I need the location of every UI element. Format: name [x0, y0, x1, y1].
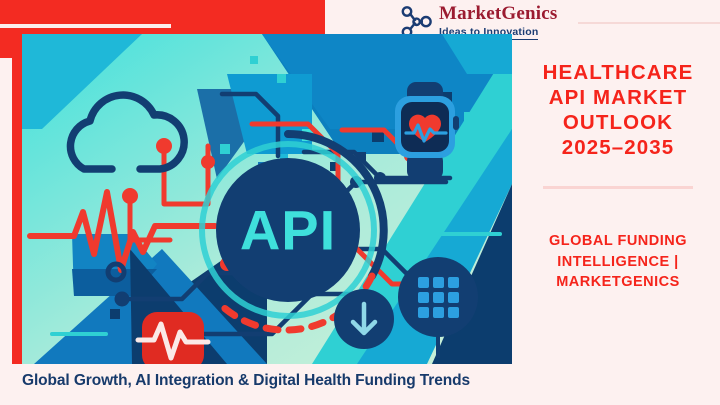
- brand-name: MarketGenics: [439, 3, 557, 24]
- subhead-line-3: MARKETGENICS: [556, 274, 680, 290]
- headline-line-3: OUTLOOK: [563, 111, 673, 134]
- heart-pulse-tile-icon: [138, 312, 208, 364]
- poster-root: MarketGenics Ideas to Innovation: [0, 0, 720, 405]
- headline-line-4: 2025–2035: [562, 136, 675, 159]
- subhead-line-1: GLOBAL FUNDING: [549, 233, 687, 249]
- title-divider: [543, 186, 693, 189]
- page-title: HEALTHCARE API MARKET OUTLOOK 2025–2035: [520, 60, 716, 160]
- footer-caption: Global Growth, AI Integration & Digital …: [22, 372, 470, 390]
- brand-underline-rule: [578, 22, 720, 24]
- subhead-line-2: INTELLIGENCE |: [557, 254, 678, 270]
- hero-illustration: API: [12, 34, 512, 364]
- subtitle: GLOBAL FUNDING INTELLIGENCE | MARKETGENI…: [520, 231, 716, 293]
- headline-line-1: HEALTHCARE: [543, 61, 694, 84]
- right-text-column: HEALTHCARE API MARKET OUTLOOK 2025–2035 …: [520, 60, 716, 293]
- svg-text:API: API: [240, 199, 336, 262]
- banner-accent-line: [0, 24, 171, 28]
- download-arrow-icon: [334, 289, 394, 349]
- headline-line-2: API MARKET: [549, 86, 688, 109]
